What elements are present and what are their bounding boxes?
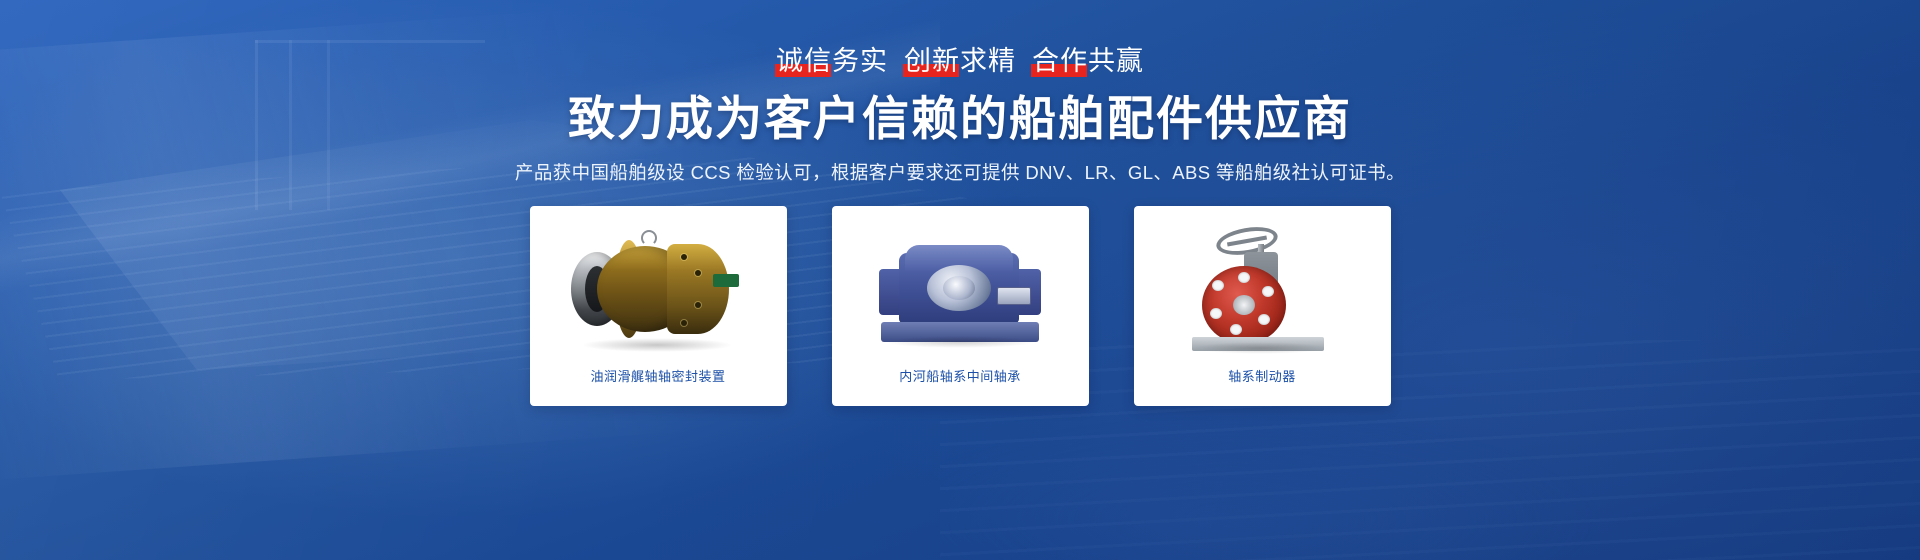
subtitle: 产品获中国船舶级设 CCS 检验认可，根据客户要求还可提供 DNV、LR、GL、… — [515, 160, 1405, 186]
product-card-list: 油润滑艉轴轴密封装置 内河船轴系中间轴承 — [530, 206, 1391, 406]
product-card[interactable]: 油润滑艉轴轴密封装置 — [530, 206, 787, 406]
product-caption: 油润滑艉轴轴密封装置 — [590, 366, 725, 385]
banner-content: 诚信务实 创新求精 合作共赢 致力成为客户信赖的船舶配件供应商 产品获中国船舶级… — [0, 0, 1920, 560]
tagline-segment-2: 创新求精 — [903, 48, 1017, 75]
product-card[interactable]: 内河船轴系中间轴承 — [832, 206, 1089, 406]
product-card[interactable]: 轴系制动器 — [1134, 206, 1391, 406]
tagline-text-2: 创新求精 — [904, 46, 1016, 76]
headline: 致力成为客户信赖的船舶配件供应商 — [568, 92, 1352, 146]
hero-banner: 诚信务实 创新求精 合作共赢 致力成为客户信赖的船舶配件供应商 产品获中国船舶级… — [0, 0, 1920, 560]
product-image-inland-vessel-intermediate-bearing — [840, 218, 1081, 360]
tagline: 诚信务实 创新求精 合作共赢 — [775, 48, 1145, 75]
product-image-oil-lubricated-stern-shaft-seal — [538, 218, 779, 360]
product-caption: 轴系制动器 — [1228, 366, 1296, 385]
tagline-text-1: 诚信务实 — [776, 46, 888, 76]
tagline-segment-3: 合作共赢 — [1031, 48, 1145, 75]
product-image-shafting-brake — [1142, 218, 1383, 360]
tagline-segment-1: 诚信务实 — [775, 48, 889, 75]
tagline-text-3: 合作共赢 — [1032, 46, 1144, 76]
product-caption: 内河船轴系中间轴承 — [899, 366, 1021, 385]
